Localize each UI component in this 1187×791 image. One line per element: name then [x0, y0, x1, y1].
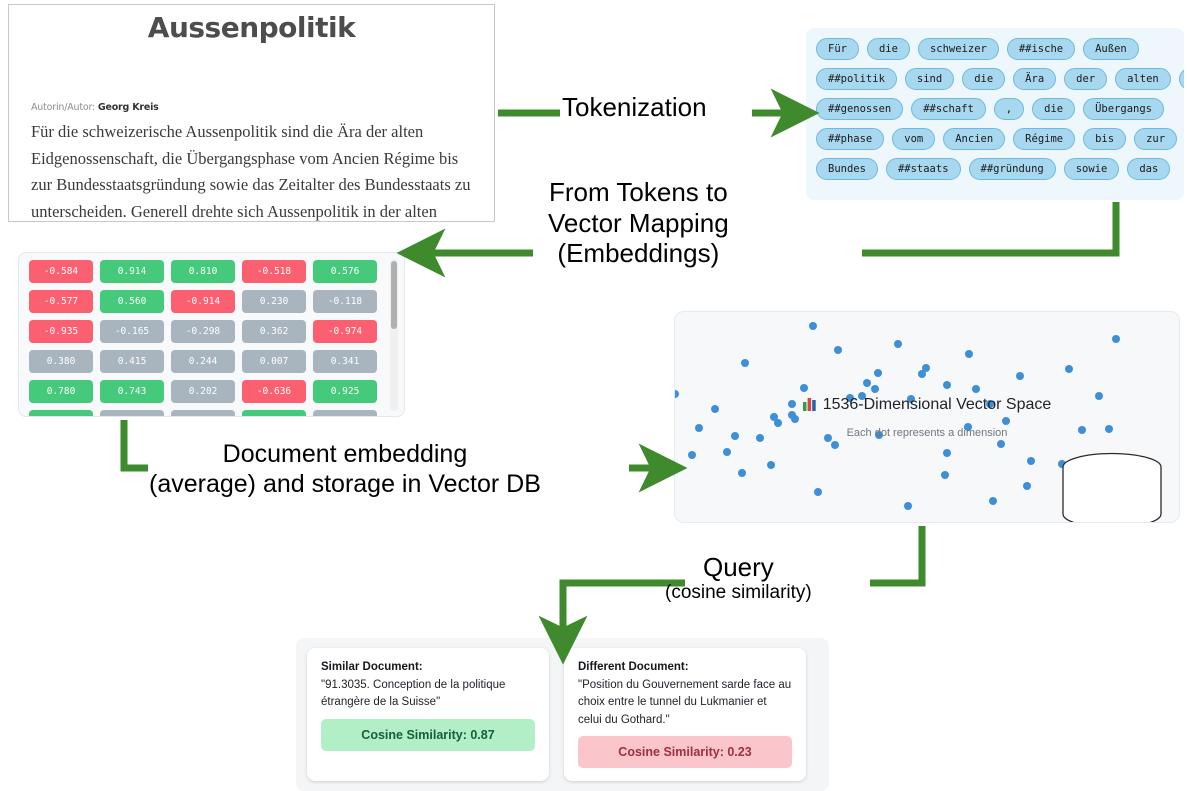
- dimension-dot: [904, 502, 912, 510]
- dimension-dot: [809, 322, 817, 330]
- arrow-query-down: [870, 526, 922, 583]
- dimension-dot: [871, 385, 879, 393]
- token-pill: ##phase: [816, 128, 884, 150]
- matrix-cell: 0.202: [171, 380, 235, 403]
- matrix-cell: 0.341: [313, 350, 377, 373]
- matrix-cell: 0.415: [100, 350, 164, 373]
- dimension-dot: [834, 346, 842, 354]
- matrix-row: -0.584 0.914 0.810 -0.518 0.576: [29, 260, 398, 283]
- tokenization-panel: Für die schweizer ##ische Außen ##politi…: [806, 28, 1184, 200]
- embedding-matrix-panel: -0.584 0.914 0.810 -0.518 0.576 -0.577 0…: [18, 252, 405, 417]
- token-pill: zur: [1134, 128, 1177, 150]
- matrix-row: -0.935 -0.165 -0.298 0.362 -0.974: [29, 320, 398, 343]
- token-pill: bis: [1083, 128, 1126, 150]
- bar-chart-icon: [803, 397, 818, 416]
- token-pill: ##gründung: [969, 158, 1056, 180]
- matrix-cell: -0.262: [171, 410, 235, 417]
- token-pill: ##schaft: [911, 98, 986, 120]
- dimension-dot: [863, 379, 871, 387]
- document-body-text: Für die schweizerische Aussenpolitik sin…: [31, 119, 476, 222]
- page-title: Aussenpolitik: [9, 11, 494, 44]
- arrow-label-query-line2: (cosine similarity): [665, 582, 812, 604]
- token-row: Bundes ##staats ##gründung sowie das: [816, 158, 1176, 180]
- different-cosine-score-badge: Cosine Similarity: 0.23: [578, 736, 792, 768]
- matrix-cell: 0.780: [29, 380, 93, 403]
- matrix-row: 0.780 0.743 0.202 -0.636 0.925: [29, 380, 398, 403]
- dimension-dot: [918, 370, 926, 378]
- matrix-cell: -0.118: [313, 290, 377, 313]
- different-document-card: Different Document: "Position du Gouvern…: [564, 648, 806, 781]
- matrix-cell: 0.810: [171, 260, 235, 283]
- matrix-row: -0.577 0.560 -0.914 0.230 -0.118: [29, 290, 398, 313]
- token-pill: die: [867, 38, 910, 60]
- cylinder-database-icon: [1060, 452, 1164, 523]
- dimension-dot: [997, 440, 1005, 448]
- token-row: Für die schweizer ##ische Außen: [816, 38, 1176, 60]
- token-pill: ,: [994, 98, 1024, 120]
- dimension-dot: [800, 384, 808, 392]
- different-document-heading: Different Document:: [578, 661, 792, 673]
- token-pill: Für: [816, 38, 859, 60]
- token-row: ##genossen ##schaft , die Übergangs: [816, 98, 1176, 120]
- matrix-cell: -0.935: [29, 320, 93, 343]
- matrix-cell: -0.577: [29, 290, 93, 313]
- matrix-row: 0.380 0.415 0.244 0.007 0.341: [29, 350, 398, 373]
- dimension-dot: [965, 350, 973, 358]
- dimension-dot: [1112, 335, 1120, 343]
- token-pill: der: [1064, 68, 1107, 90]
- dimension-dot: [723, 448, 731, 456]
- dimension-dot: [738, 469, 746, 477]
- arrow-embeddings-right: [862, 202, 1116, 253]
- similar-cosine-score-badge: Cosine Similarity: 0.87: [321, 719, 535, 751]
- token-pill: Außen: [1083, 38, 1139, 60]
- author-label: Autorin/Autor:: [31, 102, 95, 113]
- arrow-label-embeddings-line1: From Tokens to: [548, 177, 729, 208]
- dimension-dot: [1016, 372, 1024, 380]
- matrix-cell: 0.576: [313, 260, 377, 283]
- dimension-dot: [1065, 365, 1073, 373]
- arrow-label-tokenization: Tokenization: [562, 92, 707, 123]
- matrix-cell: 0.560: [100, 290, 164, 313]
- token-pill: schweizer: [918, 38, 999, 60]
- token-pill: ##ische: [1007, 38, 1075, 60]
- matrix-cell: 0.007: [242, 350, 306, 373]
- document-author: Autorin/Autor: Georg Kreis: [31, 102, 494, 113]
- different-document-text: "Position du Gouvernement sarde face au …: [578, 677, 792, 729]
- dimension-dot: [941, 471, 949, 479]
- matrix-cell: 0.914: [100, 260, 164, 283]
- dimension-dot: [972, 385, 980, 393]
- matrix-cell: 0.244: [171, 350, 235, 373]
- matrix-cell: -0.518: [242, 260, 306, 283]
- token-pill: Ancien: [943, 128, 1005, 150]
- dimension-dot: [741, 359, 749, 367]
- source-document-card: Aussenpolitik Autorin/Autor: Georg Kreis…: [8, 4, 495, 222]
- arrow-label-query: Query (cosine similarity): [665, 552, 812, 604]
- token-pill: die: [1032, 98, 1075, 120]
- arrow-label-query-line1: Query: [665, 552, 812, 583]
- vector-space-title-text: 1536-Dimensional Vector Space: [823, 396, 1052, 413]
- dimension-dot: [894, 340, 902, 348]
- matrix-cell: -0.636: [242, 380, 306, 403]
- arrow-doc-embedding-down: [124, 420, 148, 468]
- matrix-cell: -0.974: [313, 320, 377, 343]
- token-pill: sowie: [1064, 158, 1120, 180]
- dimension-dot: [1027, 457, 1035, 465]
- dimension-dot: [989, 497, 997, 505]
- token-pill: vom: [892, 128, 935, 150]
- dimension-dot: [943, 381, 951, 389]
- token-pill: Régime: [1013, 128, 1075, 150]
- token-pill: die: [962, 68, 1005, 90]
- vector-space-subtitle: Each dot represents a dimension: [675, 427, 1179, 439]
- matrix-cell: 0.743: [100, 380, 164, 403]
- token-pill: Ära: [1013, 68, 1056, 90]
- arrow-label-doc-embedding-line1: Document embedding: [149, 440, 541, 470]
- dimension-dot: [1002, 417, 1010, 425]
- dimension-dot: [943, 449, 951, 457]
- matrix-cell: 0.230: [242, 290, 306, 313]
- matrix-cell: 0.512: [29, 410, 93, 417]
- matrix-cell: 0.013: [100, 410, 164, 417]
- arrow-label-embeddings-line3: (Embeddings): [548, 238, 729, 269]
- arrow-label-embeddings-line2: Vector Mapping: [548, 208, 729, 239]
- dimension-dot: [767, 461, 775, 469]
- dimension-dot: [814, 488, 822, 496]
- token-pill: alten: [1115, 68, 1171, 90]
- token-pill: Eid: [1179, 68, 1184, 90]
- arrow-label-embeddings: From Tokens to Vector Mapping (Embedding…: [548, 177, 729, 269]
- dimension-dot: [688, 451, 696, 459]
- matrix-cell: -0.256: [313, 410, 377, 417]
- matrix-scrollbar[interactable]: [390, 259, 398, 411]
- dimension-dot: [774, 419, 782, 427]
- dimension-dot: [874, 369, 882, 377]
- matrix-cell: -0.298: [171, 320, 235, 343]
- matrix-row: 0.512 0.013 -0.262 0.919 -0.256: [29, 410, 398, 417]
- token-pill: Übergangs: [1083, 98, 1164, 120]
- dimension-dot: [831, 441, 839, 449]
- similar-document-heading: Similar Document:: [321, 661, 535, 673]
- token-row: ##phase vom Ancien Régime bis zur: [816, 128, 1176, 150]
- token-pill: ##politik: [816, 68, 897, 90]
- token-pill: ##staats: [886, 158, 961, 180]
- token-pill: ##genossen: [816, 98, 903, 120]
- matrix-cell: -0.165: [100, 320, 164, 343]
- matrix-cell: -0.914: [171, 290, 235, 313]
- token-row: ##politik sind die Ära der alten Eid: [816, 68, 1176, 90]
- similar-document-card: Similar Document: "91.3035. Conception d…: [307, 648, 549, 781]
- matrix-cell: -0.584: [29, 260, 93, 283]
- vector-space-panel: 1536-Dimensional Vector Space Each dot r…: [674, 311, 1180, 523]
- query-results-container: Similar Document: "91.3035. Conception d…: [296, 638, 829, 791]
- matrix-cell: 0.919: [242, 410, 306, 417]
- vector-space-title: 1536-Dimensional Vector Space: [675, 396, 1179, 416]
- token-pill: Bundes: [816, 158, 878, 180]
- matrix-scrollbar-thumb[interactable]: [391, 261, 397, 329]
- matrix-cell: 0.925: [313, 380, 377, 403]
- arrow-label-doc-embedding: Document embedding (average) and storage…: [149, 440, 541, 499]
- arrow-label-doc-embedding-line2: (average) and storage in Vector DB: [149, 470, 541, 500]
- author-name: Georg Kreis: [98, 102, 159, 113]
- token-pill: sind: [905, 68, 954, 90]
- token-pill: das: [1127, 158, 1170, 180]
- matrix-cell: 0.380: [29, 350, 93, 373]
- dimension-dot: [1023, 482, 1031, 490]
- similar-document-text: "91.3035. Conception de la politique étr…: [321, 677, 535, 712]
- matrix-cell: 0.362: [242, 320, 306, 343]
